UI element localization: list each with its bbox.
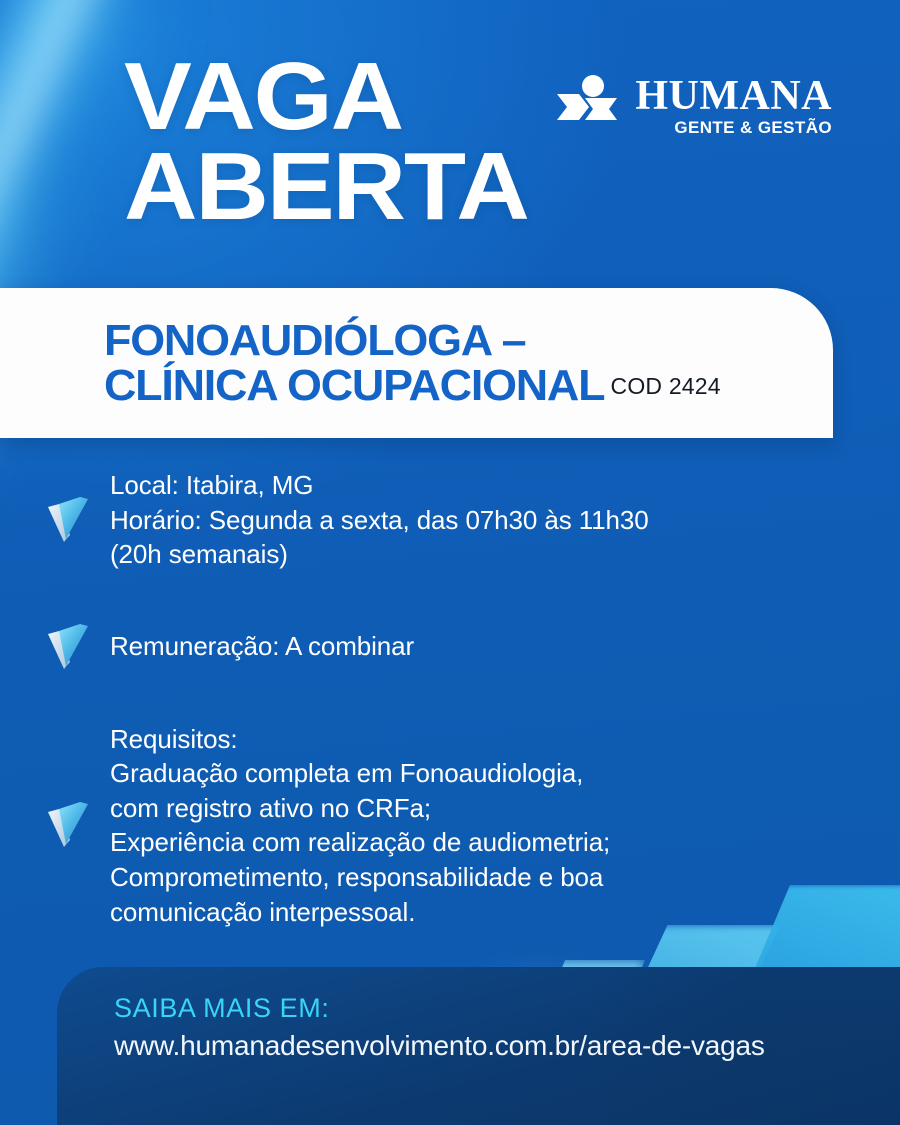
detail-line: Requisitos: xyxy=(110,722,610,757)
website-url[interactable]: www.humanadesenvolvimento.com.br/area-de… xyxy=(114,1030,900,1062)
detail-line: com registro ativo no CRFa; xyxy=(110,791,610,826)
job-details-list: Local: Itabira, MG Horário: Segunda a se… xyxy=(42,468,860,975)
job-posting-poster: VAGA ABERTA HUMANA GENTE & GESTÃO FONOAU… xyxy=(0,0,900,1125)
check-icon xyxy=(42,618,94,676)
footer-panel: SAIBA MAIS EM: www.humanadesenvolvimento… xyxy=(57,967,900,1125)
list-item: Local: Itabira, MG Horário: Segunda a se… xyxy=(42,468,860,572)
list-item: Requisitos: Graduação completa em Fonoau… xyxy=(42,722,860,929)
footer-content: SAIBA MAIS EM: www.humanadesenvolvimento… xyxy=(57,967,900,1062)
check-icon xyxy=(42,796,94,854)
detail-line: Graduação completa em Fonoaudiologia, xyxy=(110,756,610,791)
list-item: Remuneração: A combinar xyxy=(42,618,860,676)
job-title: FONOAUDIÓLOGA – CLÍNICA OCUPACIONAL xyxy=(104,318,604,409)
list-item-text: Local: Itabira, MG Horário: Segunda a se… xyxy=(110,468,649,572)
detail-line: Horário: Segunda a sexta, das 07h30 às 1… xyxy=(110,503,649,538)
list-item-text: Requisitos: Graduação completa em Fonoau… xyxy=(110,722,610,929)
banner-content: FONOAUDIÓLOGA – CLÍNICA OCUPACIONAL COD … xyxy=(0,318,721,409)
detail-line: Comprometimento, responsabilidade e boa xyxy=(110,860,610,895)
detail-line: Local: Itabira, MG xyxy=(110,468,649,503)
humana-person-chevron-icon xyxy=(555,74,625,140)
logo-tagline: GENTE & GESTÃO xyxy=(674,118,832,138)
logo-wordmark: HUMANA GENTE & GESTÃO xyxy=(635,76,832,138)
headline-line-2: ABERTA xyxy=(124,142,528,232)
list-item-text: Remuneração: A combinar xyxy=(110,629,414,664)
cta-label: SAIBA MAIS EM: xyxy=(114,993,900,1024)
job-code: COD 2424 xyxy=(611,373,721,408)
detail-line: Remuneração: A combinar xyxy=(110,629,414,664)
detail-line: (20h semanais) xyxy=(110,537,649,572)
logo-name: HUMANA xyxy=(635,76,832,116)
detail-line: Experiência com realização de audiometri… xyxy=(110,825,610,860)
job-title-banner: FONOAUDIÓLOGA – CLÍNICA OCUPACIONAL COD … xyxy=(0,288,833,438)
check-icon xyxy=(42,491,94,549)
poster-headline: VAGA ABERTA xyxy=(124,52,528,232)
job-title-line-2: CLÍNICA OCUPACIONAL xyxy=(104,363,604,408)
detail-line: comunicação interpessoal. xyxy=(110,895,610,930)
job-title-line-1: FONOAUDIÓLOGA – xyxy=(104,318,604,363)
company-logo: HUMANA GENTE & GESTÃO xyxy=(555,74,832,140)
